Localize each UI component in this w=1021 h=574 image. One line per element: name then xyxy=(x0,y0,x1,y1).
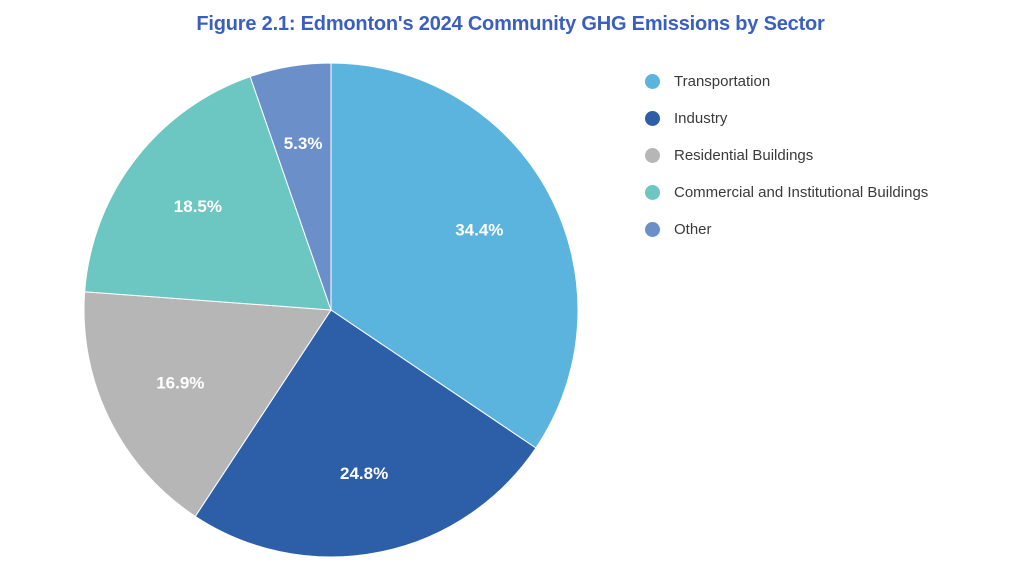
legend-swatch-icon xyxy=(645,74,660,89)
legend: TransportationIndustryResidential Buildi… xyxy=(645,63,1021,248)
legend-item-label: Commercial and Institutional Buildings xyxy=(674,184,928,201)
pie-slice-value-label: 34.4% xyxy=(455,221,503,240)
legend-item[interactable]: Transportation xyxy=(645,63,1021,100)
legend-swatch-icon xyxy=(645,222,660,237)
legend-swatch-icon xyxy=(645,185,660,200)
chart-page: Figure 2.1: Edmonton's 2024 Community GH… xyxy=(0,0,1021,574)
pie-slice-value-label: 16.9% xyxy=(156,374,204,393)
legend-swatch-icon xyxy=(645,111,660,126)
pie-slice-value-label: 24.8% xyxy=(340,464,388,483)
legend-item-label: Other xyxy=(674,221,712,238)
pie-chart: 34.4%24.8%16.9%18.5%5.3% xyxy=(0,0,640,574)
pie-slice-value-label: 18.5% xyxy=(174,197,222,216)
legend-item-label: Industry xyxy=(674,110,727,127)
legend-item-label: Residential Buildings xyxy=(674,147,813,164)
pie-slice-value-label: 5.3% xyxy=(284,134,323,153)
pie-chart-svg: 34.4%24.8%16.9%18.5%5.3% xyxy=(0,0,640,574)
pie-slice-group xyxy=(84,63,578,557)
legend-item[interactable]: Industry xyxy=(645,100,1021,137)
legend-item[interactable]: Residential Buildings xyxy=(645,137,1021,174)
legend-item[interactable]: Commercial and Institutional Buildings xyxy=(645,174,1021,211)
legend-swatch-icon xyxy=(645,148,660,163)
legend-item[interactable]: Other xyxy=(645,211,1021,248)
legend-item-label: Transportation xyxy=(674,73,770,90)
